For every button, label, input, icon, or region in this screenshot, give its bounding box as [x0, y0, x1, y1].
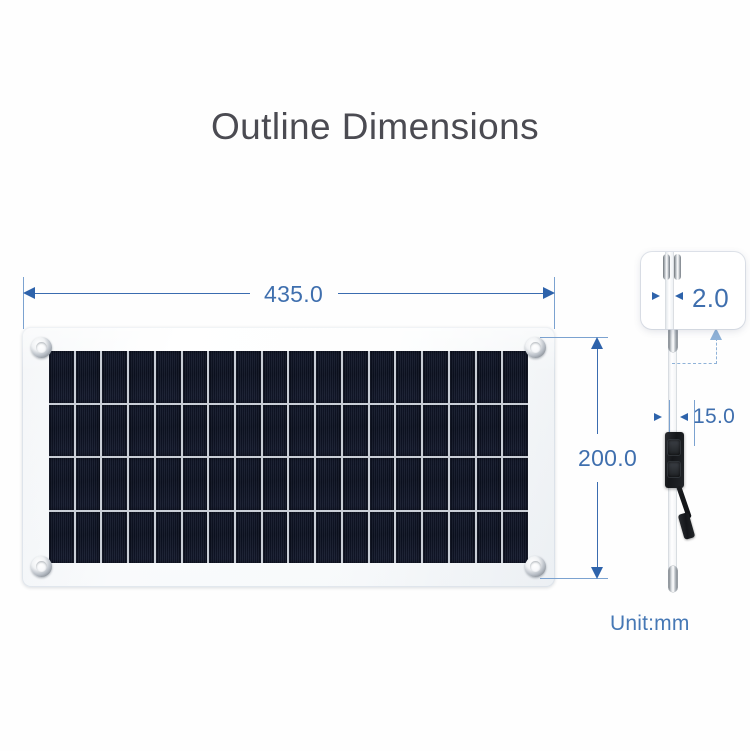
- solar-cell: [263, 512, 288, 564]
- detail-grommet-left: [663, 254, 670, 280]
- junction-box-port: [668, 440, 680, 455]
- solar-cell: [156, 405, 181, 457]
- solar-cell: [450, 405, 475, 457]
- solar-cell: [289, 512, 314, 564]
- detail-grommet-right: [674, 254, 681, 280]
- solar-cell: [183, 512, 208, 564]
- width-dimension-line-left: [35, 293, 250, 294]
- height-dimension-value: 200.0: [574, 443, 641, 474]
- width-extension-line-right: [554, 277, 555, 329]
- solar-panel-front-view: [22, 327, 555, 587]
- solar-cell: [129, 458, 154, 510]
- solar-cell: [450, 512, 475, 564]
- solar-cell: [49, 405, 74, 457]
- solar-cell: [129, 351, 154, 403]
- arrow-left-icon: [680, 413, 688, 421]
- detail-leader-horizontal: [672, 363, 717, 364]
- solar-cell: [76, 405, 101, 457]
- solar-cell: [477, 458, 502, 510]
- junction-box-port: [668, 462, 680, 477]
- solar-cell: [503, 351, 528, 403]
- solar-cell: [102, 351, 127, 403]
- solar-cell: [76, 351, 101, 403]
- cable-connector: [678, 512, 696, 540]
- solar-cell: [316, 458, 341, 510]
- solar-cell: [503, 458, 528, 510]
- solar-cell: [263, 405, 288, 457]
- solar-cell: [396, 351, 421, 403]
- solar-cell: [370, 512, 395, 564]
- solar-cell: [343, 351, 368, 403]
- solar-cell: [423, 405, 448, 457]
- solar-cell: [316, 405, 341, 457]
- solar-cell: [316, 512, 341, 564]
- solar-cell: [423, 351, 448, 403]
- solar-cell-grid: [49, 351, 528, 563]
- unit-label: Unit:mm: [610, 612, 690, 636]
- arrow-right-icon: [543, 287, 555, 299]
- solar-cell: [49, 458, 74, 510]
- width-dimension-value: 435.0: [258, 281, 329, 308]
- grommet-top-left: [31, 337, 52, 358]
- page-title: Outline Dimensions: [0, 106, 750, 148]
- grommet-bottom-left: [31, 556, 52, 577]
- solar-cell: [156, 351, 181, 403]
- solar-cell: [209, 405, 234, 457]
- arrow-left-icon: [675, 292, 683, 300]
- solar-cell: [477, 405, 502, 457]
- solar-cell: [102, 512, 127, 564]
- arrow-left-icon: [23, 287, 35, 299]
- solar-cell: [236, 458, 261, 510]
- solar-cell: [477, 351, 502, 403]
- solar-cell: [49, 512, 74, 564]
- solar-cell: [423, 458, 448, 510]
- arrow-up-icon: [710, 328, 722, 340]
- solar-cell: [49, 351, 74, 403]
- solar-cell: [156, 512, 181, 564]
- solar-cell: [236, 512, 261, 564]
- solar-cell: [396, 512, 421, 564]
- solar-cell: [343, 512, 368, 564]
- solar-cell: [450, 351, 475, 403]
- solar-cell: [370, 351, 395, 403]
- height-dimension-line-lower: [597, 482, 598, 567]
- side-grommet-top: [668, 326, 677, 352]
- side-grommet-bottom: [668, 566, 677, 592]
- solar-cell: [289, 351, 314, 403]
- connector-offset-value: 15.0: [693, 405, 735, 429]
- solar-cell: [370, 458, 395, 510]
- solar-cell: [129, 405, 154, 457]
- grommet-bottom-right: [525, 556, 546, 577]
- solar-cell: [450, 458, 475, 510]
- solar-cell: [209, 512, 234, 564]
- solar-cell: [76, 458, 101, 510]
- solar-cell: [477, 512, 502, 564]
- thickness-value: 2.0: [692, 283, 729, 314]
- thickness-detail-magnifier: 2.0: [641, 252, 745, 329]
- junction-box: [665, 432, 684, 488]
- solar-cell: [183, 351, 208, 403]
- solar-cell: [236, 405, 261, 457]
- arrow-up-icon: [591, 337, 603, 349]
- height-dimension-line-upper: [597, 348, 598, 434]
- grommet-top-right: [525, 337, 546, 358]
- detail-leader-vertical: [716, 338, 717, 364]
- solar-cell: [76, 512, 101, 564]
- solar-cell: [423, 512, 448, 564]
- solar-cell: [396, 458, 421, 510]
- arrow-down-icon: [591, 567, 603, 579]
- solar-cell: [370, 405, 395, 457]
- solar-cell: [316, 351, 341, 403]
- solar-cell: [343, 458, 368, 510]
- solar-cell: [503, 405, 528, 457]
- solar-cell: [183, 458, 208, 510]
- solar-cell: [102, 458, 127, 510]
- diagram-canvas: Outline Dimensions 435.0: [0, 0, 750, 751]
- solar-cell: [183, 405, 208, 457]
- solar-cell: [289, 458, 314, 510]
- solar-cell: [102, 405, 127, 457]
- solar-cell: [396, 405, 421, 457]
- width-extension-line-left: [23, 277, 24, 329]
- arrow-right-icon: [652, 292, 660, 300]
- solar-cell: [263, 351, 288, 403]
- width-dimension-line-right: [338, 293, 544, 294]
- solar-cell: [263, 458, 288, 510]
- arrow-right-icon: [654, 413, 662, 421]
- solar-cell: [209, 458, 234, 510]
- solar-cell: [129, 512, 154, 564]
- solar-cell: [503, 512, 528, 564]
- solar-cell: [209, 351, 234, 403]
- solar-cell: [156, 458, 181, 510]
- solar-cell: [289, 405, 314, 457]
- solar-cell: [236, 351, 261, 403]
- solar-cell: [343, 405, 368, 457]
